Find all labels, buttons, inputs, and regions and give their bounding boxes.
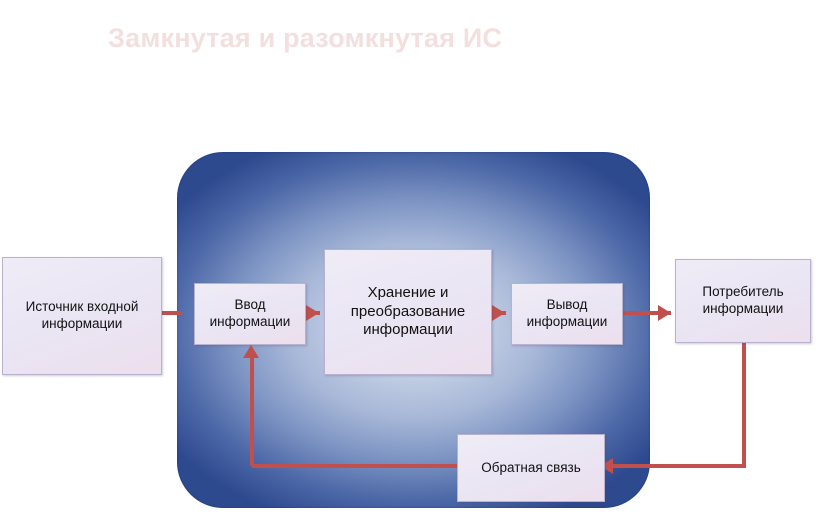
node-feedback[interactable]: Обратная связь — [457, 434, 605, 502]
node-information-output[interactable]: Вывод информации — [511, 283, 623, 345]
node-information-storage-and-transformation[interactable]: Хранение и преобразование информации — [324, 249, 492, 375]
arrowhead-right-icon — [492, 305, 505, 321]
arrowhead-right-icon — [306, 305, 319, 321]
node-information-input[interactable]: Ввод информации — [194, 283, 306, 345]
slide-canvas: Замкнутая и разомкнутая ИС Источник вход… — [0, 0, 816, 516]
arrowhead-up-icon — [243, 345, 259, 358]
page-title: Замкнутая и разомкнутая ИС — [108, 18, 708, 58]
connector-source-to-input — [162, 311, 182, 315]
connector-feedback-up — [250, 355, 254, 466]
arrowhead-right-icon — [658, 305, 671, 321]
connector-consumer-down — [742, 343, 746, 468]
connector-to-feedback — [609, 464, 744, 468]
node-source-of-input-information[interactable]: Источник входной информации — [2, 257, 162, 375]
node-information-consumer[interactable]: Потребитель информации — [675, 259, 811, 343]
connector-feedback-out — [252, 464, 459, 468]
